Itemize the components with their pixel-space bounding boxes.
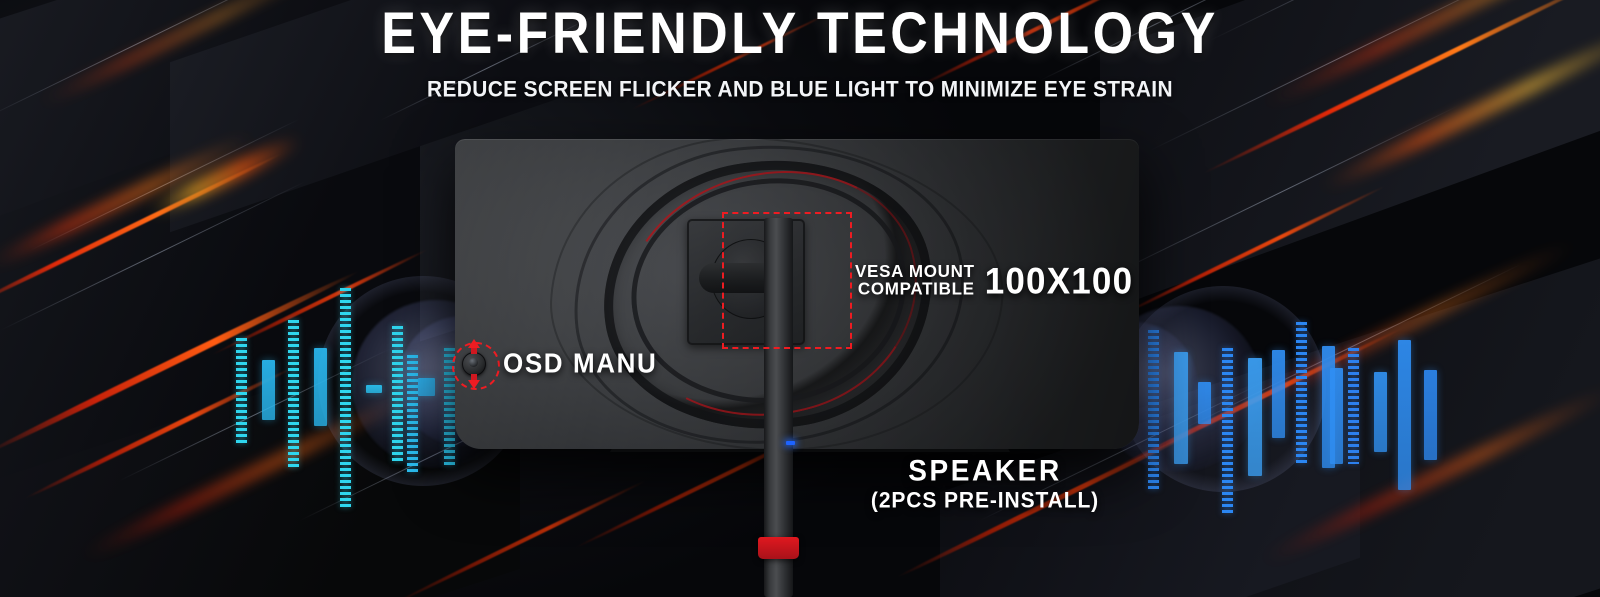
equalizer-bar <box>288 320 299 470</box>
arrow-down-icon <box>468 380 480 389</box>
equalizer-bar <box>392 326 403 464</box>
equalizer-bar <box>1248 358 1262 476</box>
equalizer-bar <box>262 360 275 420</box>
equalizer-bar <box>1348 348 1359 464</box>
equalizer-bar <box>1374 372 1387 452</box>
product-feature-banner: EYE-FRIENDLY TECHNOLOGY REDUCE SCREEN FL… <box>0 0 1600 597</box>
page-title: EYE-FRIENDLY TECHNOLOGY <box>0 5 1600 64</box>
equalizer-bar <box>366 385 382 393</box>
equalizer-bar <box>1198 382 1211 424</box>
equalizer-bar <box>314 348 327 426</box>
speaker-callout-subtitle: (2PCS PRE-INSTALL) <box>860 488 1110 513</box>
vesa-callout-lines: VESA MOUNT COMPATIBLE <box>855 262 975 298</box>
equalizer-bar <box>1148 330 1159 490</box>
equalizer-bar <box>340 288 351 510</box>
equalizer-bar <box>407 355 418 475</box>
stand-red-accent-band <box>758 537 799 559</box>
vesa-callout-line2: COMPATIBLE <box>855 281 975 299</box>
arrow-up-icon <box>468 339 480 348</box>
osd-callout-label: OSD MANU <box>503 347 657 380</box>
equalizer-bar <box>1330 368 1343 464</box>
equalizer-bar <box>418 378 435 396</box>
vesa-callout-block: VESA MOUNT COMPATIBLE 100X100 <box>855 258 1133 298</box>
speaker-callout-block: SPEAKER (2PCS PRE-INSTALL) <box>860 455 1110 513</box>
equalizer-bar <box>1222 348 1233 516</box>
power-led-indicator <box>786 441 795 445</box>
equalizer-bar <box>1272 350 1285 438</box>
speaker-callout-title: SPEAKER <box>860 454 1110 488</box>
equalizer-bar <box>1296 322 1307 464</box>
vesa-size-value: 100X100 <box>985 261 1134 303</box>
osd-joystick-control[interactable] <box>452 342 496 386</box>
header-block: EYE-FRIENDLY TECHNOLOGY REDUCE SCREEN FL… <box>0 8 1600 102</box>
equalizer-bar <box>1174 352 1188 464</box>
vesa-highlight-dashed-box <box>722 212 852 349</box>
equalizer-bar <box>1398 340 1411 490</box>
page-subtitle: REDUCE SCREEN FLICKER AND BLUE LIGHT TO … <box>24 76 1576 102</box>
equalizer-bar <box>1424 370 1437 460</box>
equalizer-bar <box>236 338 247 444</box>
